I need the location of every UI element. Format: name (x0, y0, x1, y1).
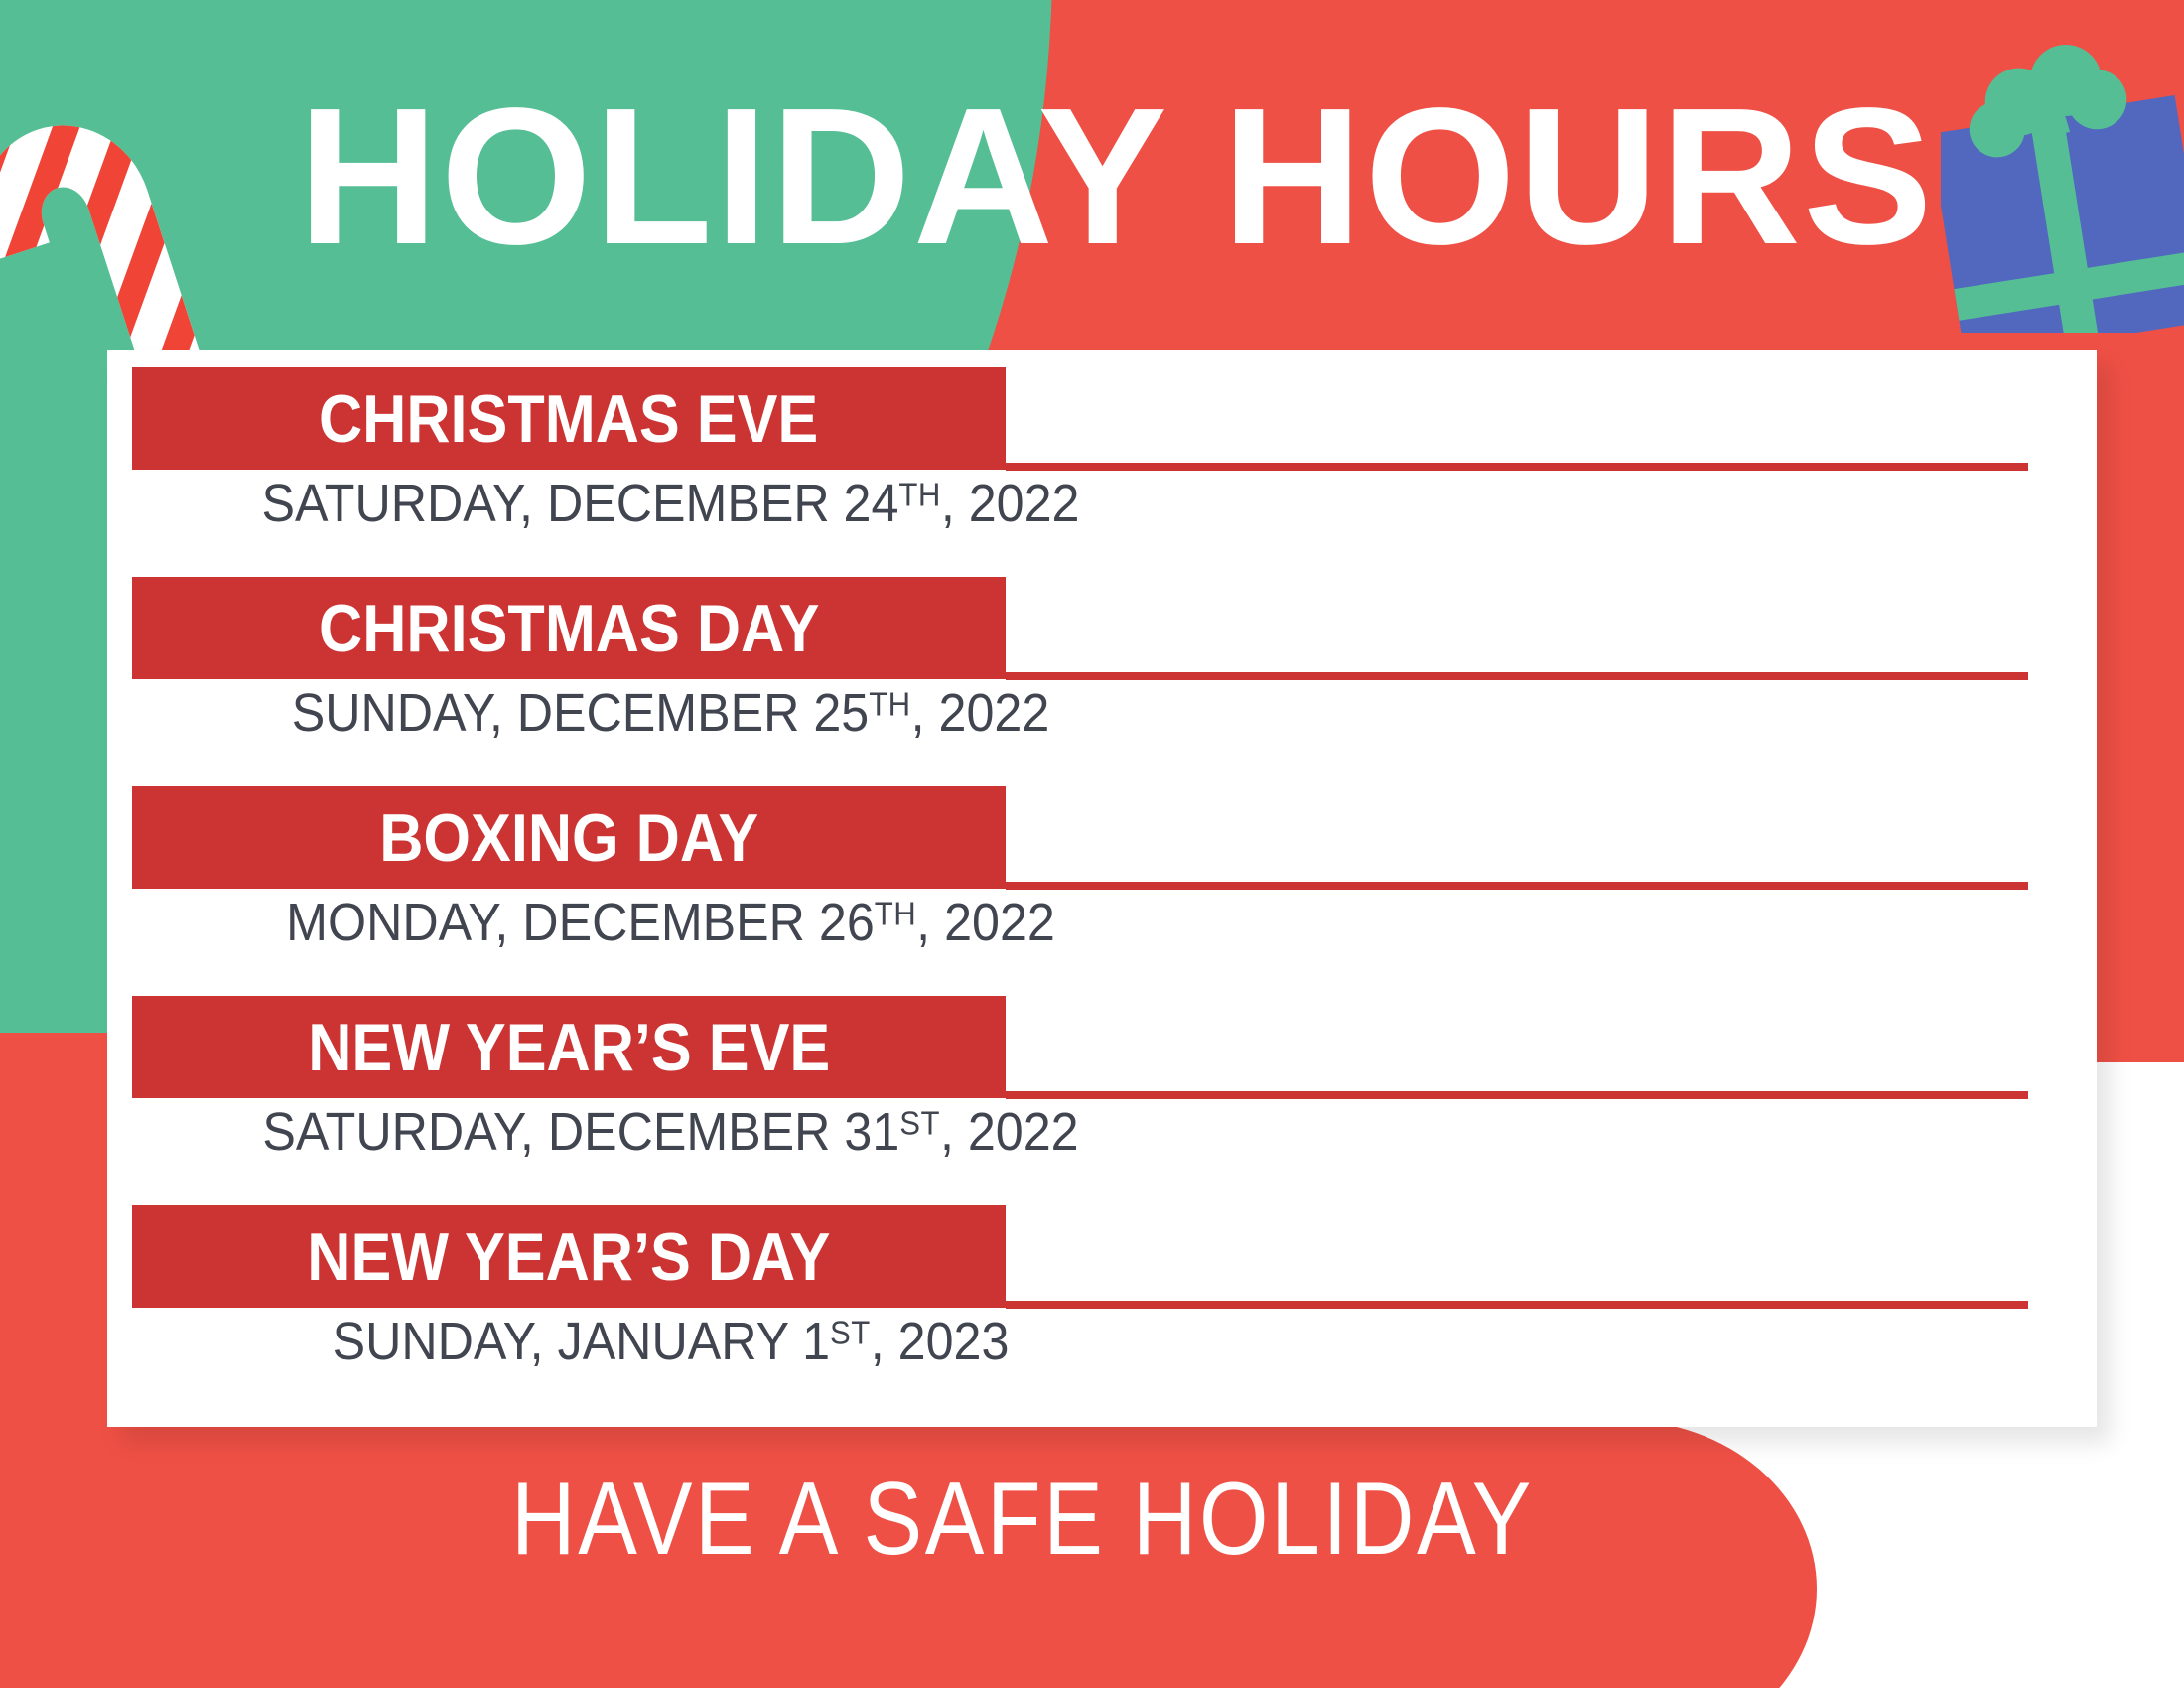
holiday-banner-rule (1006, 672, 2028, 680)
holiday-banner: CHRISTMAS EVE (132, 367, 1006, 470)
holiday-name: CHRISTMAS DAY (319, 595, 819, 662)
holiday-banner-wrap: NEW YEAR’S DAY (132, 1205, 2028, 1308)
date-suffix: , 2022 (911, 683, 1050, 743)
date-suffix: , 2022 (916, 893, 1055, 952)
holiday-date: MONDAY, DECEMBER 26TH, 2022 (170, 896, 1171, 949)
date-ordinal: ST (830, 1316, 871, 1352)
holiday-banner: NEW YEAR’S EVE (132, 996, 1006, 1098)
holiday-hours-poster: HOLIDAY HOURS CHRISTMAS EVE SATURDAY, DE… (0, 0, 2184, 1688)
date-prefix: SUNDAY, JANUARY 1 (333, 1312, 830, 1371)
holiday-banner-rule (1006, 1091, 2028, 1099)
date-suffix: , 2022 (940, 1102, 1079, 1162)
date-prefix: MONDAY, DECEMBER 26 (286, 893, 875, 952)
holiday-banner-rule (1006, 882, 2028, 890)
date-suffix: , 2023 (871, 1312, 1010, 1371)
holiday-banner: CHRISTMAS DAY (132, 577, 1006, 679)
schedule-rows: CHRISTMAS EVE SATURDAY, DECEMBER 24TH, 2… (107, 350, 2097, 1406)
holiday-banner-rule (1006, 463, 2028, 471)
holiday-name: NEW YEAR’S DAY (307, 1223, 830, 1291)
date-prefix: SATURDAY, DECEMBER 24 (262, 474, 899, 533)
schedule-row: BOXING DAY MONDAY, DECEMBER 26TH, 2022 (107, 769, 2097, 978)
holiday-date: SUNDAY, DECEMBER 25TH, 2022 (170, 686, 1171, 740)
holiday-banner: BOXING DAY (132, 786, 1006, 889)
holiday-banner-wrap: CHRISTMAS DAY (132, 577, 2028, 679)
date-suffix: , 2022 (941, 474, 1080, 533)
page-title: HOLIDAY HOURS (298, 79, 1926, 274)
holiday-date: SATURDAY, DECEMBER 24TH, 2022 (170, 477, 1171, 530)
date-prefix: SATURDAY, DECEMBER 31 (262, 1102, 899, 1162)
holiday-name: CHRISTMAS EVE (319, 385, 818, 453)
footer-message: HAVE A SAFE HOLIDAY (143, 1468, 1902, 1571)
holiday-banner-wrap: CHRISTMAS EVE (132, 367, 2028, 470)
schedule-card: CHRISTMAS EVE SATURDAY, DECEMBER 24TH, 2… (107, 350, 2097, 1427)
holiday-banner-wrap: BOXING DAY (132, 786, 2028, 889)
date-ordinal: TH (898, 478, 940, 514)
schedule-row: NEW YEAR’S EVE SATURDAY, DECEMBER 31ST, … (107, 978, 2097, 1188)
date-ordinal: TH (875, 897, 916, 933)
holiday-banner-rule (1006, 1301, 2028, 1309)
date-prefix: SUNDAY, DECEMBER 25 (292, 683, 869, 743)
schedule-row: CHRISTMAS EVE SATURDAY, DECEMBER 24TH, 2… (107, 350, 2097, 559)
holiday-date: SATURDAY, DECEMBER 31ST, 2022 (170, 1105, 1171, 1159)
holiday-banner: NEW YEAR’S DAY (132, 1205, 1006, 1308)
holiday-name: NEW YEAR’S EVE (308, 1014, 830, 1081)
holiday-banner-wrap: NEW YEAR’S EVE (132, 996, 2028, 1098)
holiday-name: BOXING DAY (379, 804, 758, 872)
date-ordinal: TH (869, 687, 910, 724)
date-ordinal: ST (899, 1106, 940, 1143)
holiday-date: SUNDAY, JANUARY 1ST, 2023 (170, 1315, 1171, 1368)
gift-box-icon (1941, 35, 2184, 333)
schedule-row: CHRISTMAS DAY SUNDAY, DECEMBER 25TH, 202… (107, 559, 2097, 769)
schedule-row: NEW YEAR’S DAY SUNDAY, JANUARY 1ST, 2023 (107, 1188, 2097, 1406)
